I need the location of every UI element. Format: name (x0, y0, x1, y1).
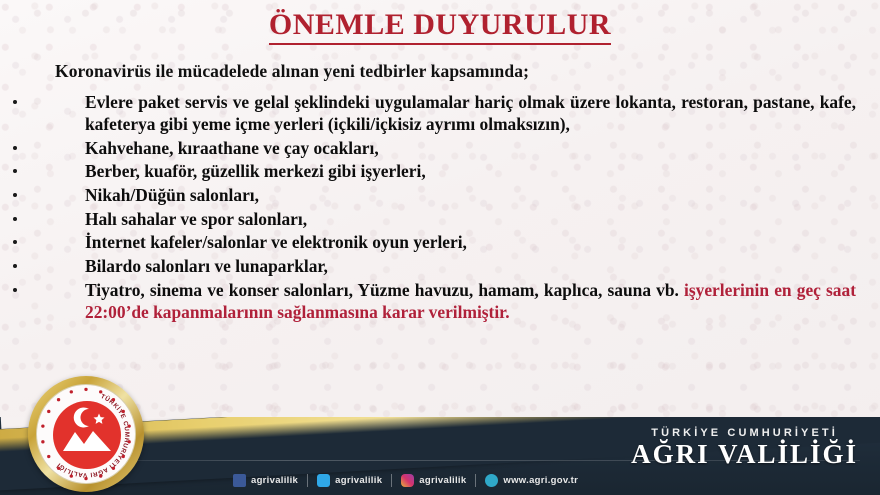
list-item-final: Tiyatro, sinema ve konser salonları, Yüz… (0, 279, 880, 324)
bullet-icon (13, 217, 17, 221)
twitter-icon (317, 474, 330, 487)
list-item: Bilardo salonları ve lunaparklar, (0, 255, 880, 278)
list-item-text: Evlere paket servis ve gelal şeklindeki … (85, 91, 880, 136)
bullet-icon (13, 100, 17, 104)
crescent-mountain-icon (53, 401, 121, 469)
bullet-icon (13, 240, 17, 244)
social-link-website[interactable]: www.agri.gov.tr (476, 474, 587, 487)
bullet-icon (13, 169, 17, 173)
bullet-icon (13, 264, 17, 268)
list-item-text: Nikah/Düğün salonları, (85, 184, 880, 207)
social-link-instagram[interactable]: agrivalilik (392, 474, 475, 487)
seal-inner-disc: TÜRKİYE CUMHURİYETİ AĞRI VALİLİĞİ (36, 384, 136, 484)
twitter-handle: agrivalilik (335, 475, 382, 486)
list-item-text-final: Tiyatro, sinema ve konser salonları, Yüz… (85, 279, 880, 324)
list-item: Berber, kuaför, güzellik merkezi gibi iş… (0, 160, 880, 183)
instagram-handle: agrivalilik (419, 475, 466, 486)
wordmark-republic: TÜRKİYE CUMHURİYETİ (631, 427, 858, 439)
list-item: Evlere paket servis ve gelal şeklindeki … (0, 91, 880, 136)
list-item-text: Halı sahalar ve spor salonları, (85, 208, 880, 231)
list-item-text: Kahvehane, kıraathane ve çay ocakları, (85, 137, 880, 160)
title-container: ÖNEMLE DUYURULUR (0, 0, 880, 45)
measures-list: Evlere paket servis ve gelal şeklindeki … (0, 91, 880, 324)
bullet-icon (13, 146, 17, 150)
wordmark-governorship: AĞRI VALİLİĞİ (631, 440, 858, 469)
instagram-icon (401, 474, 414, 487)
page-title: ÖNEMLE DUYURULUR (269, 9, 611, 45)
social-links-row: agrivalilik agrivalilik agrivalilik www.… (224, 474, 587, 487)
list-item: Kahvehane, kıraathane ve çay ocakları, (0, 137, 880, 160)
seal-red-disc (53, 401, 121, 469)
facebook-handle: agrivalilik (251, 475, 298, 486)
list-item-text: Berber, kuaför, güzellik merkezi gibi iş… (85, 160, 880, 183)
announcement-page: ÖNEMLE DUYURULUR Koronavirüs ile mücadel… (0, 0, 880, 495)
footer-wordmark: TÜRKİYE CUMHURİYETİ AĞRI VALİLİĞİ (631, 427, 858, 469)
social-link-facebook[interactable]: agrivalilik (224, 474, 307, 487)
list-item-text: Bilardo salonları ve lunaparklar, (85, 255, 880, 278)
globe-icon (485, 474, 498, 487)
final-text-black: Tiyatro, sinema ve konser salonları, Yüz… (85, 280, 684, 300)
list-item: İnternet kafeler/salonlar ve elektronik … (0, 231, 880, 254)
list-item: Halı sahalar ve spor salonları, (0, 208, 880, 231)
facebook-icon (233, 474, 246, 487)
list-item: Nikah/Düğün salonları, (0, 184, 880, 207)
official-seal: TÜRKİYE CUMHURİYETİ AĞRI VALİLİĞİ (28, 376, 144, 492)
website-url: www.agri.gov.tr (503, 475, 578, 486)
social-link-twitter[interactable]: agrivalilik (308, 474, 391, 487)
bullet-icon (13, 288, 17, 292)
subtitle: Koronavirüs ile mücadelede alınan yeni t… (55, 61, 880, 82)
bullet-icon (13, 193, 17, 197)
list-item-text: İnternet kafeler/salonlar ve elektronik … (85, 231, 880, 254)
